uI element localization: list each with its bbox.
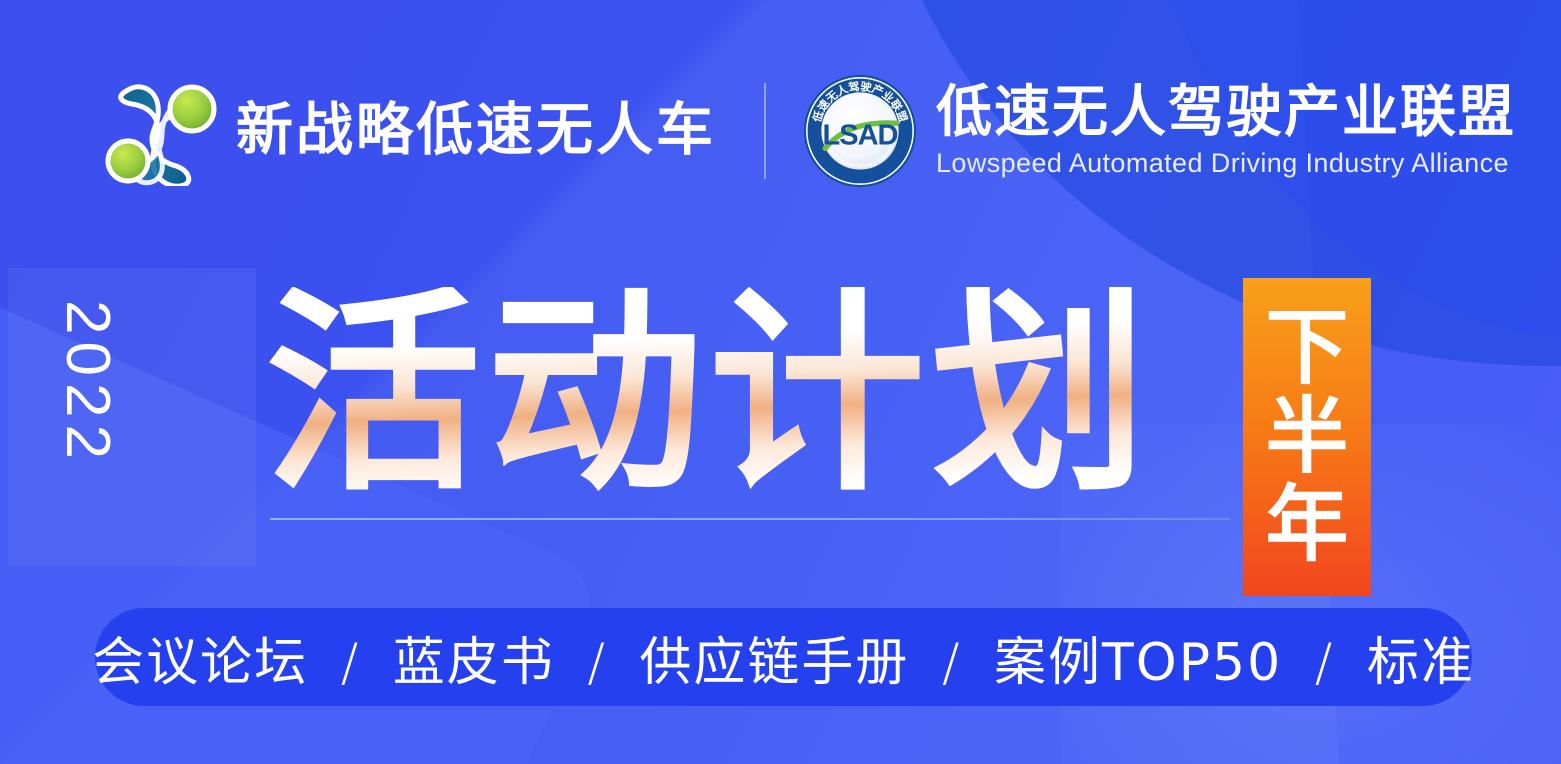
- header-brand-row: 新战略低速无人车 低: [0, 58, 1561, 203]
- seal-center-text: LSAD: [822, 119, 897, 151]
- right-brand-name-en: Lowspeed Automated Driving Industry Alli…: [936, 150, 1516, 177]
- topic-separator-0: /: [327, 633, 375, 693]
- headline-title: 活动计划: [265, 287, 1153, 503]
- left-brand-name: 新战略低速无人车: [236, 102, 716, 159]
- right-brand-text: 低速无人驾驶产业联盟 Lowspeed Automated Driving In…: [936, 85, 1516, 177]
- topic-item-0: 会议论坛: [92, 633, 308, 693]
- year-label: 2022: [56, 300, 118, 466]
- right-brand: 低速无人驾驶产业联盟 Lowspeed Automated Driving In…: [802, 73, 1516, 189]
- brand-divider: [764, 83, 766, 179]
- half-year-char-1: 下: [1266, 304, 1349, 393]
- background-panel-year: [8, 268, 256, 566]
- topic-item-3: 案例TOP50: [994, 633, 1282, 693]
- event-plan-banner: 新战略低速无人车 低: [0, 0, 1561, 764]
- dna-x-mark-icon: [96, 76, 222, 186]
- half-year-char-2: 半: [1266, 393, 1349, 482]
- topics-list: 会议论坛 / 蓝皮书 / 供应链手册 / 案例TOP50 / 标准: [92, 620, 1475, 695]
- left-brand: 新战略低速无人车: [96, 76, 716, 186]
- green-node-lower-icon: [108, 141, 148, 181]
- half-year-char-3: 年: [1266, 481, 1349, 570]
- right-brand-name-cn: 低速无人驾驶产业联盟: [936, 85, 1516, 141]
- topic-separator-1: /: [573, 633, 621, 693]
- topics-pill-bar: 会议论坛 / 蓝皮书 / 供应链手册 / 案例TOP50 / 标准: [95, 608, 1472, 706]
- half-year-badge: 下 半 年: [1243, 278, 1371, 596]
- topic-separator-3: /: [1301, 633, 1349, 693]
- topic-item-2: 供应链手册: [639, 633, 909, 693]
- green-node-upper-icon: [170, 87, 214, 131]
- lsad-seal-icon: 低速无人驾驶产业联盟 Lowspeed Automated Driving In…: [802, 73, 918, 189]
- topic-item-4: 标准: [1367, 633, 1475, 693]
- topic-item-1: 蓝皮书: [393, 633, 555, 693]
- title-underline-rule: [270, 518, 1230, 520]
- topic-separator-2: /: [928, 633, 976, 693]
